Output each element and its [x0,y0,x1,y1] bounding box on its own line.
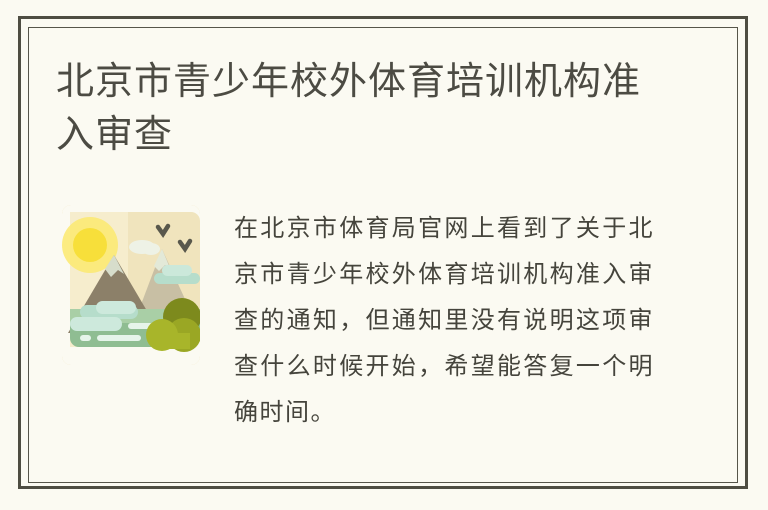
page-title: 北京市青少年校外体育培训机构准入审查 [56,56,676,162]
landscape-icon [62,205,200,365]
article-card: 北京市青少年校外体育培训机构准入审查 [0,0,768,510]
mountain-landscape-illustration [62,205,200,365]
article-body: 在北京市体育局官网上看到了关于北京市青少年校外体育培训机构准入审查的通知，但通知… [234,205,654,435]
